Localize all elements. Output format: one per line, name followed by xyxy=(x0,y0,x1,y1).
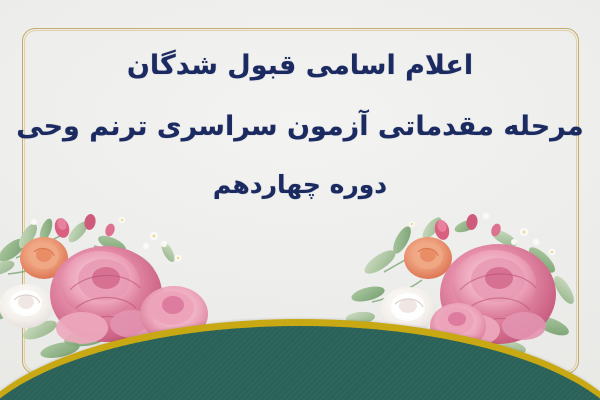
headline-line-2: مرحله مقدماتی آزمون سراسری ترنم وحی xyxy=(0,113,600,140)
teal-bottom-arc xyxy=(0,326,600,400)
headline-block: اعلام اسامی قبول شدگان مرحله مقدماتی آزم… xyxy=(0,52,600,197)
headline-line-1: اعلام اسامی قبول شدگان xyxy=(0,52,600,79)
headline-line-3: دوره چهاردهم xyxy=(0,172,600,197)
announcement-poster: اعلام اسامی قبول شدگان مرحله مقدماتی آزم… xyxy=(0,0,600,400)
